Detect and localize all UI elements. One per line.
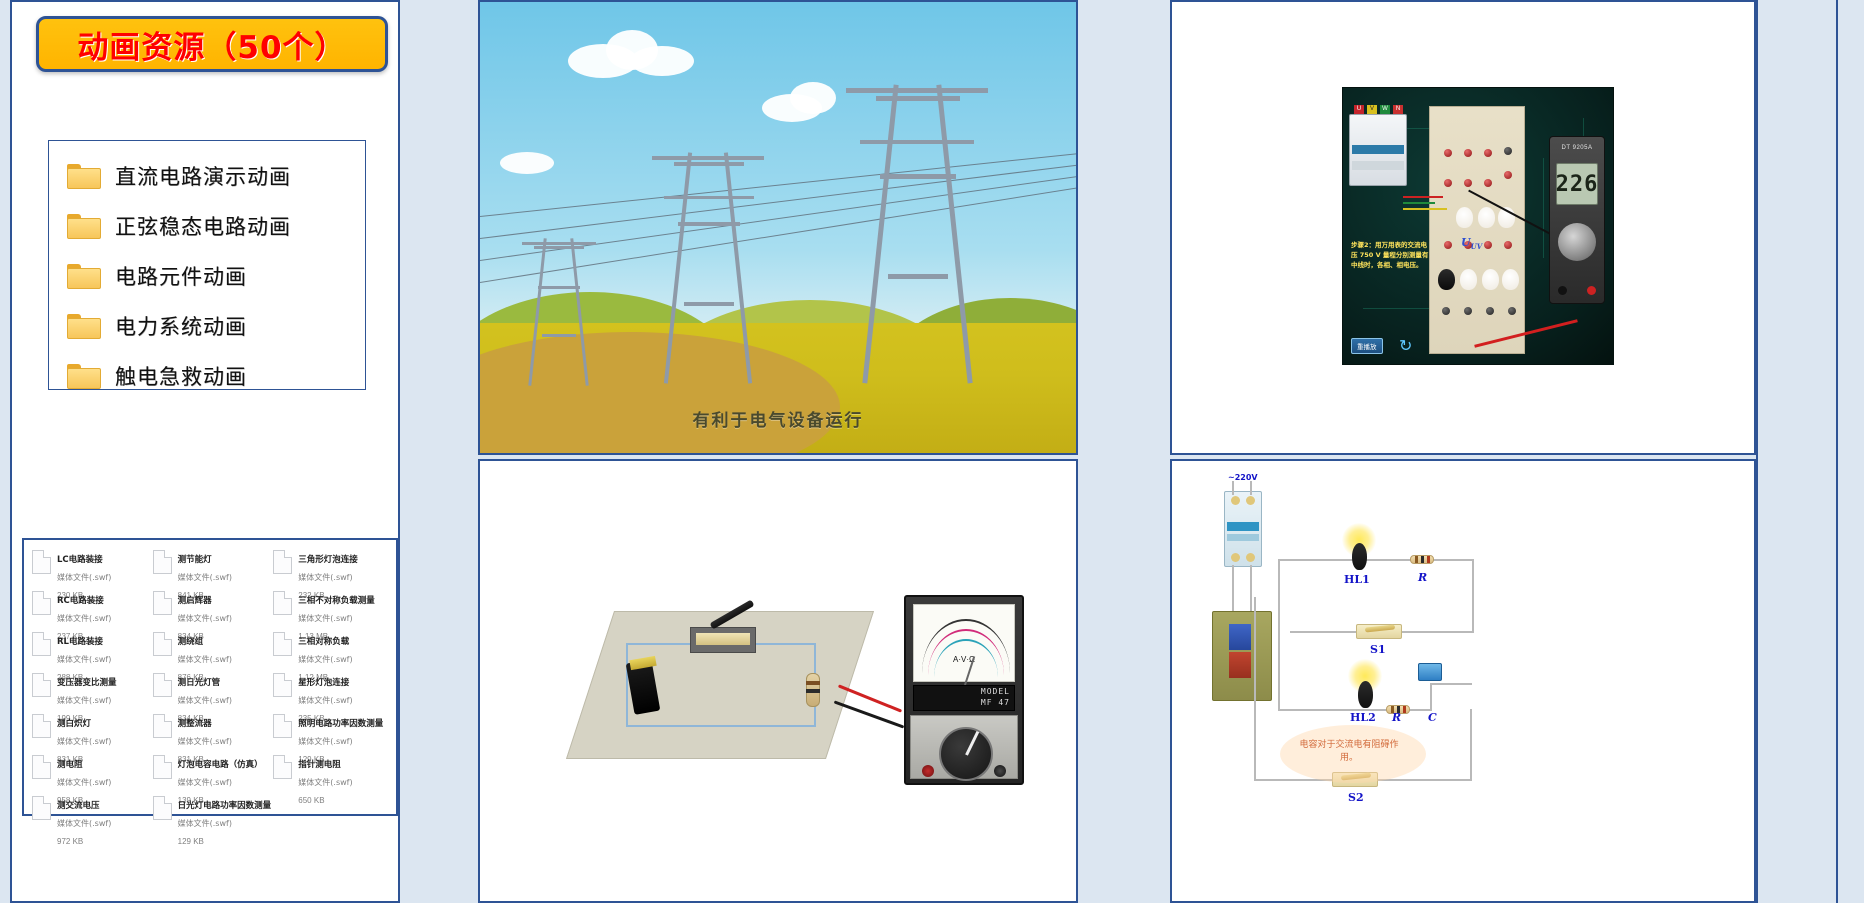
file-name: 灯泡电容电路（仿真） [178,760,263,770]
file-type: 媒体文件(.swf) [298,655,352,664]
voltage-label: UUV [1461,236,1482,251]
file-type: 媒体文件(.swf) [178,696,232,705]
file-type: 媒体文件(.swf) [57,696,111,705]
file-type: 媒体文件(.swf) [178,655,232,664]
lead-wire-green [1403,202,1435,204]
board-photo: U V W N [1342,87,1614,365]
transformer-coil-blue [1229,624,1251,650]
swf-file-icon [153,550,172,574]
swf-file-icon [32,673,51,697]
swf-file-icon [273,755,292,779]
file-list-item[interactable]: 星形灯泡连接媒体文件(.swf)235 KB [271,670,392,711]
meter-jack-black[interactable] [994,765,1006,777]
file-type: 媒体文件(.swf) [57,573,111,582]
folder-icon [67,264,101,289]
folder-label: 直流电路演示动画 [115,161,291,191]
dmm-display: 226 [1556,163,1598,205]
phase-tag-u: U [1354,105,1364,114]
resistor-r1 [1410,555,1434,564]
resistor-band [806,681,820,685]
decor-circuit-trace [1543,158,1544,258]
callout-note: 电容对于交流电有阻碍作用。 [1294,739,1404,765]
file-name: 星形灯泡连接 [298,678,349,688]
lamp-board-panel [1429,106,1525,354]
switch2-label: S2 [1348,791,1364,804]
file-type: 媒体文件(.swf) [178,614,232,623]
mains-wire [1232,565,1234,615]
file-list-item[interactable]: 日光灯电路功率因数测量媒体文件(.swf)129 KB [151,793,272,834]
file-size: 972 KB [57,837,83,846]
swf-file-icon [32,591,51,615]
file-name: 测电阻 [57,760,83,770]
file-name: 三角形灯泡连接 [298,555,358,565]
terminal [1444,179,1452,187]
folder-item-electric-shock-rescue[interactable]: 触电急救动画 [67,351,365,401]
lamp-hl1 [1352,543,1367,570]
file-name: 日光灯电路功率因数测量 [178,801,272,811]
file-name: 三相对称负载 [298,637,349,647]
right-filmstrip-pane [1756,0,1836,903]
file-name: 指针测电阻 [298,760,341,770]
replay-arrow-icon[interactable]: ↻ [1399,336,1412,356]
swf-file-icon [153,755,172,779]
file-type: 媒体文件(.swf) [57,778,111,787]
file-name: 测节能灯 [178,555,212,565]
analog-multimeter: A·V·Ω MODEL MF 47 [904,595,1024,785]
transformer [1212,611,1272,701]
file-explorer-list[interactable]: LC电路装接媒体文件(.swf)230 KB测节能灯媒体文件(.swf)841 … [22,538,398,816]
lamp [1478,207,1495,228]
swf-file-icon [273,550,292,574]
file-name: LC电路装接 [57,555,103,565]
file-list-item[interactable]: 测节能灯媒体文件(.swf)841 KB [151,547,272,588]
left-gutter [0,0,10,903]
terminal [1464,179,1472,187]
folder-item-circuit-elements[interactable]: 电路元件动画 [67,251,365,301]
terminal [1464,307,1472,315]
file-list-item[interactable]: 三相对称负载媒体文件(.swf)1.12 MB [271,629,392,670]
file-type: 媒体文件(.swf) [57,819,111,828]
switch-s1[interactable] [1356,624,1402,639]
lamp-hl2 [1358,681,1373,708]
swf-file-icon [32,714,51,738]
mcb-terminal [1246,496,1255,505]
mains-wire [1250,481,1252,495]
terminal [1504,147,1512,155]
folder-icon [67,214,101,239]
file-name: 变压器变比测量 [57,678,117,688]
slide-transmission-tower-animation: 有利于电气设备运行 [478,0,1078,455]
file-name: RC电路装接 [57,596,104,606]
file-list-item[interactable]: 三角形灯泡连接媒体文件(.swf)232 KB [271,547,392,588]
folder-label: 电力系统动画 [115,311,247,341]
folder-icon [67,314,101,339]
replay-button[interactable]: 重播放 [1351,338,1383,354]
lamp [1438,269,1455,290]
dmm-jack-red[interactable] [1587,286,1596,295]
transmission-tower [870,84,964,384]
file-type: 媒体文件(.swf) [57,655,111,664]
file-type: 媒体文件(.swf) [57,614,111,623]
terminal [1442,307,1450,315]
switch1-label: S1 [1370,643,1386,656]
mcb-terminal [1231,553,1240,562]
transformer-coil-red [1229,652,1251,678]
lead-wire-red [1403,196,1443,198]
capacitor-label: C [1428,711,1437,724]
file-type: 媒体文件(.swf) [178,573,232,582]
swf-file-icon [153,714,172,738]
dmm-jack-black[interactable] [1558,286,1567,295]
file-list-item[interactable]: 测交流电压媒体文件(.swf)972 KB [30,793,151,834]
circuit-wire [626,643,628,725]
file-list-item[interactable]: 灯泡电容电路（仿真）媒体文件(.swf)139 KB [151,752,272,793]
phase-tag-w: W [1380,105,1390,114]
file-list-item[interactable]: 变压器变比测量媒体文件(.swf)199 KB [30,670,151,711]
meter-brand-label: MODEL [981,687,1010,696]
file-list-item[interactable]: 测绕组媒体文件(.swf)876 KB [151,629,272,670]
three-phase-breaker: U V W N [1349,114,1407,186]
lamp1-label: HL1 [1344,573,1370,586]
file-type: 媒体文件(.swf) [298,696,352,705]
file-list-item[interactable]: 测日光灯管媒体文件(.swf)834 KB [151,670,272,711]
folder-label: 电路元件动画 [115,261,247,291]
voltage-subscript: UV [1471,242,1483,251]
terminal [1484,179,1492,187]
terminal [1484,149,1492,157]
file-name: 测整流器 [178,719,212,729]
swf-file-icon [153,632,172,656]
right-edge-strip [1836,0,1864,903]
file-list-item[interactable]: 测白炽灯媒体文件(.swf)831 KB [30,711,151,752]
meter-scale-label: A·V·Ω [906,655,1022,664]
file-type: 媒体文件(.swf) [178,778,232,787]
file-list-item[interactable]: 测启辉器媒体文件(.swf)834 KB [151,588,272,629]
transmission-tower [670,152,746,384]
cloud-icon [790,82,836,114]
terminal [1484,241,1492,249]
swf-file-icon [32,550,51,574]
step-caption: 步骤2：用万用表的交流电压 750 V 量程分别测量有中线时，各相、相电压。 [1351,240,1429,270]
file-list-item[interactable]: RC电路装接媒体文件(.swf)237 KB [30,588,151,629]
dmm-brand-label: DT 9205A [1550,145,1604,151]
file-type: 媒体文件(.swf) [298,573,352,582]
slide-three-phase-measurement-animation: U V W N [1170,0,1756,455]
swf-file-icon [153,673,172,697]
folder-label: 触电急救动画 [115,361,247,391]
folder-list: 直流电路演示动画 正弦稳态电路动画 电路元件动画 电力系统动画 触电急救动画 [48,140,366,390]
lamp [1456,207,1473,228]
file-name: 测日光灯管 [178,678,221,688]
file-name: 测绕组 [178,637,204,647]
file-list-item[interactable]: LC电路装接媒体文件(.swf)230 KB [30,547,151,588]
slide-animation-resources: 动画资源（50个） 直流电路演示动画 正弦稳态电路动画 电路元件动画 电力系统动… [10,0,400,903]
dmm-range-dial[interactable] [1558,223,1596,261]
file-size: 129 KB [178,837,204,846]
file-name: 测交流电压 [57,801,100,811]
resistor-band [806,689,820,693]
mcb-terminal [1246,553,1255,562]
page-title: 动画资源（50个） [77,22,346,67]
probe-lead-black [834,700,905,728]
file-name: RL电路装接 [57,637,103,647]
presentation-canvas: 动画资源（50个） 直流电路演示动画 正弦稳态电路动画 电路元件动画 电力系统动… [0,0,1864,903]
circuit-wire [1278,559,1474,561]
slide-capacitor-circuit-animation: ~220V HL1 R S1 [1170,459,1756,903]
knife-switch-base [696,633,750,645]
circuit-wire [1472,559,1474,633]
file-type: 媒体文件(.swf) [178,819,232,828]
lead-wire-yellow [1403,208,1447,210]
phase-tag-v: V [1367,105,1377,114]
file-type: 媒体文件(.swf) [298,614,352,623]
file-size: 650 KB [298,796,324,805]
file-name: 测启辉器 [178,596,212,606]
file-type: 媒体文件(.swf) [298,778,352,787]
swf-file-icon [153,591,172,615]
swf-file-icon [32,796,51,820]
transmission-tower [532,238,586,386]
swf-file-icon [32,632,51,656]
terminal [1464,149,1472,157]
terminal [1486,307,1494,315]
circuit-wire [1430,683,1432,711]
circuit-wire [1430,683,1472,685]
swf-file-icon [153,796,172,820]
swf-file-icon [273,673,292,697]
folder-item-dc-circuit[interactable]: 直流电路演示动画 [67,151,365,201]
file-list-item[interactable]: 照明电路功率因数测量媒体文件(.swf)129 KB [271,711,392,752]
title-banner: 动画资源（50个） [36,16,388,72]
file-name: 测白炽灯 [57,719,91,729]
digital-multimeter: DT 9205A 226 [1549,136,1605,304]
folder-item-power-system[interactable]: 电力系统动画 [67,301,365,351]
swf-file-icon [273,714,292,738]
file-list-item[interactable]: RL电路装接媒体文件(.swf)288 KB [30,629,151,670]
mains-wire [1232,481,1234,495]
scene-caption: 有利于电气设备运行 [480,406,1076,431]
lamp [1502,269,1519,290]
voltage-symbol: U [1461,236,1471,249]
file-name: 照明电路功率因数测量 [298,719,383,729]
file-type: 媒体文件(.swf) [178,737,232,746]
circuit-wire [1254,597,1256,779]
file-list-item[interactable]: 测电阻媒体文件(.swf)958 KB [30,752,151,793]
terminal [1504,241,1512,249]
terminal [1444,241,1452,249]
terminal [1444,149,1452,157]
lamp [1460,269,1477,290]
mains-wire [1250,565,1252,615]
meter-model-label: MF 47 [981,698,1010,707]
mcb-terminal [1231,496,1240,505]
folder-icon [67,364,101,389]
swf-file-icon [273,632,292,656]
file-name: 三相不对称负载测量 [298,596,375,606]
terminal [1504,171,1512,179]
lamp [1482,269,1499,290]
file-type: 媒体文件(.swf) [57,737,111,746]
circuit-wire [1278,597,1280,711]
lamp2-label: HL2 [1350,711,1376,724]
cloud-icon [630,46,694,76]
capacitor [1418,663,1442,681]
phase-tag-n: N [1393,105,1403,114]
folder-item-sinusoidal-circuit[interactable]: 正弦稳态电路动画 [67,201,365,251]
file-list-item[interactable]: 三相不对称负载测量媒体文件(.swf)1.13 MB [271,588,392,629]
folder-label: 正弦稳态电路动画 [115,211,291,241]
file-type: 媒体文件(.swf) [298,737,352,746]
resistor2-label: R [1392,711,1401,724]
circuit-wire [626,725,816,727]
folder-icon [67,164,101,189]
meter-jack-red[interactable] [922,765,934,777]
miniature-circuit-breaker [1224,491,1262,567]
circuit-wire [1470,709,1472,781]
file-list-item[interactable]: 指针测电阻媒体文件(.swf)650 KB [271,752,392,793]
resistor1-label: R [1418,571,1427,584]
slide-analog-multimeter-animation: A·V·Ω MODEL MF 47 [478,459,1078,903]
swf-file-icon [273,591,292,615]
terminal [1508,307,1516,315]
file-list-item[interactable]: 测整流器媒体文件(.swf)831 KB [151,711,272,752]
cloud-icon [500,152,554,174]
swf-file-icon [32,755,51,779]
